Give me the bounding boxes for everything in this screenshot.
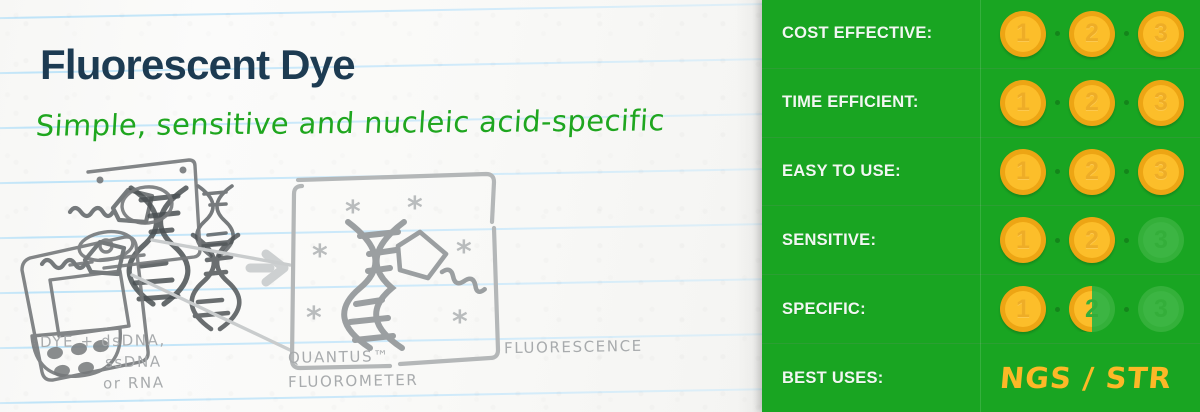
coin-number: 2 [1085,228,1099,253]
coin-filled: 2 [1069,149,1115,195]
input-caption-line-3: or RNA [103,373,165,392]
coin-separator-dot [1055,100,1060,105]
panel-column-divider [980,0,981,412]
scorecard-row-time-efficient: TIME EFFICIENT: 1 2 3 [762,69,1200,138]
coin-filled: 3 [1138,11,1184,57]
scorecard-row-specific: SPECIFIC: 1 2 3 [762,275,1200,344]
coin-empty: 3 [1138,217,1184,263]
instrument-caption-line-1: QUANTUS™ [288,347,390,367]
input-caption-line-2: ssDNA [105,353,162,372]
coin-number: 2 [1085,90,1099,115]
coin-number: 3 [1154,21,1168,46]
result-caption: FLUORESCENCE [504,337,643,357]
row-label: BEST USES: [762,369,980,388]
paper-panel: Fluorescent Dye Simple, sensitive and nu… [0,0,762,412]
coin-number: 2 [1085,159,1099,184]
instrument-caption-line-2: FLUOROMETER [288,371,419,391]
scorecard-panel: COST EFFECTIVE: 1 2 3 [762,0,1200,412]
scorecard-row-cost-effective: COST EFFECTIVE: 1 2 3 [762,0,1200,69]
coin-half-filled: 2 [1069,286,1115,332]
coin-number: 1 [1016,90,1030,115]
coin-number: 2 [1085,21,1099,46]
coin-number: 1 [1016,297,1030,322]
scorecard-row-best-uses: BEST USES: NGS / STR [762,344,1200,412]
coin-separator-dot [1124,31,1129,36]
row-label: EASY TO USE: [762,162,980,181]
coin-separator-dot [1124,307,1129,312]
sparkle-icon: * [407,191,423,226]
coin-filled: 2 [1069,217,1115,263]
coin-empty: 3 [1138,286,1184,332]
coin-number: 1 [1016,228,1030,253]
coin-filled: 1 [1000,80,1046,126]
coin-rating: 1 2 3 [980,217,1200,263]
coin-filled: 3 [1138,149,1184,195]
coin-number: 3 [1154,159,1168,184]
coin-number: 3 [1154,90,1168,115]
coin-filled: 1 [1000,217,1046,263]
row-label: TIME EFFICIENT: [762,93,980,112]
row-label: SPECIFIC: [762,300,980,319]
coin-separator-dot [1055,238,1060,243]
sparkle-icon: * [312,239,328,274]
coin-number: 1 [1016,159,1030,184]
coin-filled: 1 [1000,11,1046,57]
coin-filled: 3 [1138,80,1184,126]
coin-rating: 1 2 3 [980,11,1200,57]
sparkle-icon: * [306,301,322,336]
coin-filled: 1 [1000,149,1046,195]
coin-separator-dot [1055,307,1060,312]
workflow-illustration: * * * * * * [0,150,762,412]
infographic-banner: Fluorescent Dye Simple, sensitive and nu… [0,0,1200,412]
coin-rating: 1 2 3 [980,149,1200,195]
coin-filled: 2 [1069,11,1115,57]
coin-filled: 2 [1069,80,1115,126]
scorecard-row-sensitive: SENSITIVE: 1 2 3 [762,206,1200,275]
scorecard-row-easy-to-use: EASY TO USE: 1 2 3 [762,138,1200,207]
coin-separator-dot [1055,169,1060,174]
coin-rating: 1 2 3 [980,80,1200,126]
coin-filled: 1 [1000,286,1046,332]
coin-separator-dot [1124,238,1129,243]
page-subtitle: Simple, sensitive and nucleic acid-speci… [35,103,666,142]
coin-number: 2 [1085,297,1099,322]
coin-number: 3 [1154,297,1168,322]
coin-rating: 1 2 3 [980,286,1200,332]
coin-number: 3 [1154,228,1168,253]
coin-separator-dot [1055,31,1060,36]
row-label: COST EFFECTIVE: [762,24,980,43]
coin-separator-dot [1124,169,1129,174]
scorecard-rows: COST EFFECTIVE: 1 2 3 [762,0,1200,412]
row-label: SENSITIVE: [762,231,980,250]
sparkle-icon: * [456,235,472,270]
coin-number: 1 [1016,21,1030,46]
page-title: Fluorescent Dye [40,44,355,86]
sparkle-icon: * [452,305,468,340]
input-caption-line-1: DYE + dsDNA, [40,331,166,351]
best-uses-value: NGS / STR [979,361,1200,395]
coin-separator-dot [1124,100,1129,105]
